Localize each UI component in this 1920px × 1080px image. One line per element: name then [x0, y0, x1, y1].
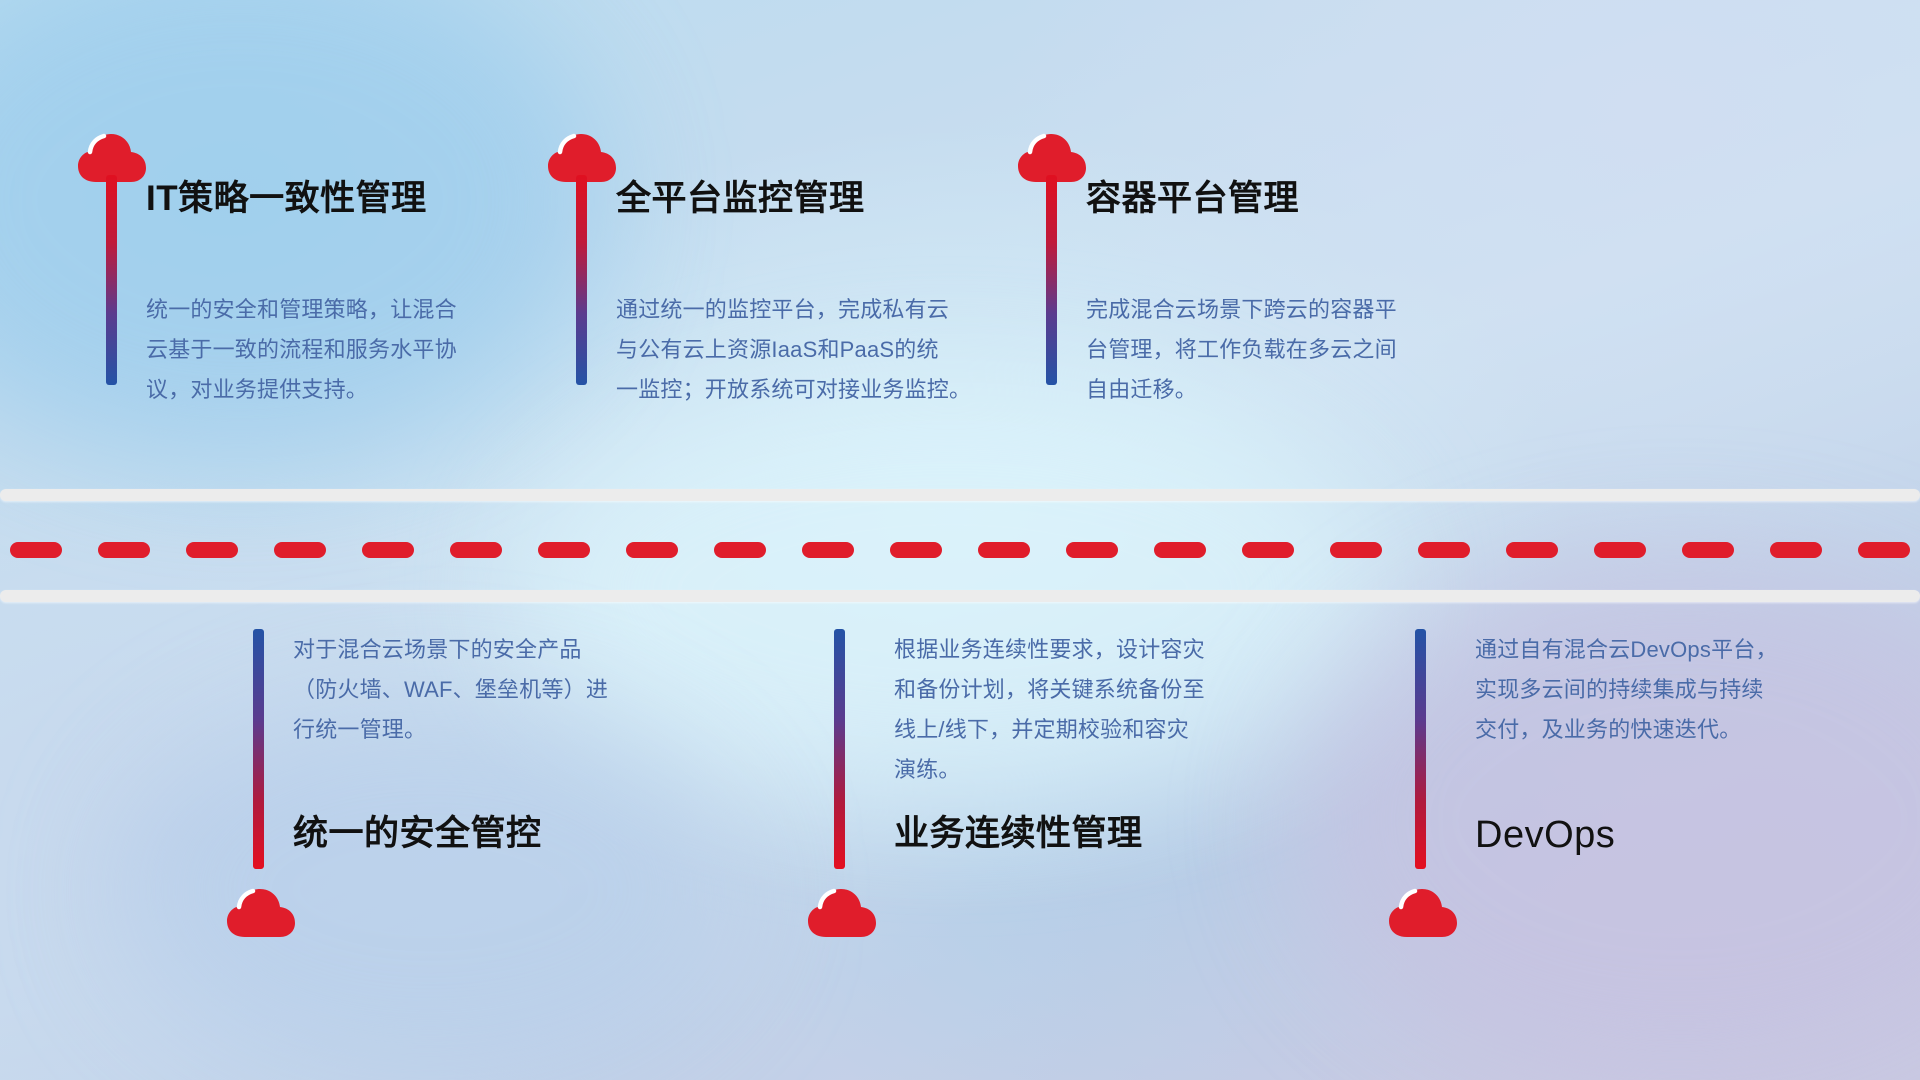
bottom-body-1: 对于混合云场景下的安全产品 （防火墙、WAF、堡垒机等）进 行统一管理。 [293, 630, 723, 750]
road-dash [1066, 542, 1118, 558]
road-dash [186, 542, 238, 558]
stem-line [576, 175, 587, 385]
road-dash [538, 542, 590, 558]
road-edge-top [0, 489, 1920, 501]
top-heading-2: 全平台监控管理 [616, 180, 865, 219]
cloud-icon-glyph [1387, 885, 1461, 941]
road-dash [274, 542, 326, 558]
road-dash [1858, 542, 1910, 558]
top-heading-1: IT策略一致性管理 [146, 180, 427, 219]
road-dash [1770, 542, 1822, 558]
top-body-3: 完成混合云场景下跨云的容器平 台管理，将工作负载在多云之间 自由迁移。 [1086, 290, 1526, 410]
cloud-icon-glyph [225, 885, 299, 941]
top-body-1: 统一的安全和管理策略，让混合 云基于一致的流程和服务水平协 议，对业务提供支持。 [146, 290, 586, 410]
road-dash [450, 542, 502, 558]
road-dash [362, 542, 414, 558]
road-dash [1594, 542, 1646, 558]
cloud-icon [1387, 885, 1461, 941]
road-dash [978, 542, 1030, 558]
road-dashes [0, 542, 1920, 558]
top-body-2: 通过统一的监控平台，完成私有云 与公有云上资源IaaS和PaaS的统 一监控；开… [616, 290, 1076, 410]
road-dash [1418, 542, 1470, 558]
bottom-heading-2: 业务连续性管理 [894, 815, 1143, 854]
cloud-icon [806, 885, 880, 941]
bottom-body-3: 通过自有混合云DevOps平台， 实现多云间的持续集成与持续 交付，及业务的快速… [1475, 630, 1905, 750]
road-dash [1242, 542, 1294, 558]
top-heading-3: 容器平台管理 [1086, 180, 1299, 219]
road-dash [802, 542, 854, 558]
stem-line [253, 629, 264, 869]
cloud-icon-glyph [806, 885, 880, 941]
bottom-heading-3: DevOps [1475, 815, 1615, 857]
stem-line [1046, 175, 1057, 385]
stem-line [1415, 629, 1426, 869]
road-dash [890, 542, 942, 558]
cloud-icon [225, 885, 299, 941]
background-haze-bottom-left [120, 700, 740, 1080]
road-dash [1506, 542, 1558, 558]
stem-line [106, 175, 117, 385]
road-dash [1154, 542, 1206, 558]
infographic-canvas: IT策略一致性管理 统一的安全和管理策略，让混合 云基于一致的流程和服务水平协 … [0, 0, 1920, 1080]
bottom-heading-1: 统一的安全管控 [293, 815, 542, 854]
road-dash [714, 542, 766, 558]
road-dash [626, 542, 678, 558]
road-dash [1330, 542, 1382, 558]
road-edge-bottom [0, 590, 1920, 602]
bottom-body-2: 根据业务连续性要求，设计容灾 和备份计划，将关键系统备份至 线上/线下，并定期校… [894, 630, 1324, 790]
stem-line [834, 629, 845, 869]
road-dash [98, 542, 150, 558]
road-dash [1682, 542, 1734, 558]
road-dash [10, 542, 62, 558]
